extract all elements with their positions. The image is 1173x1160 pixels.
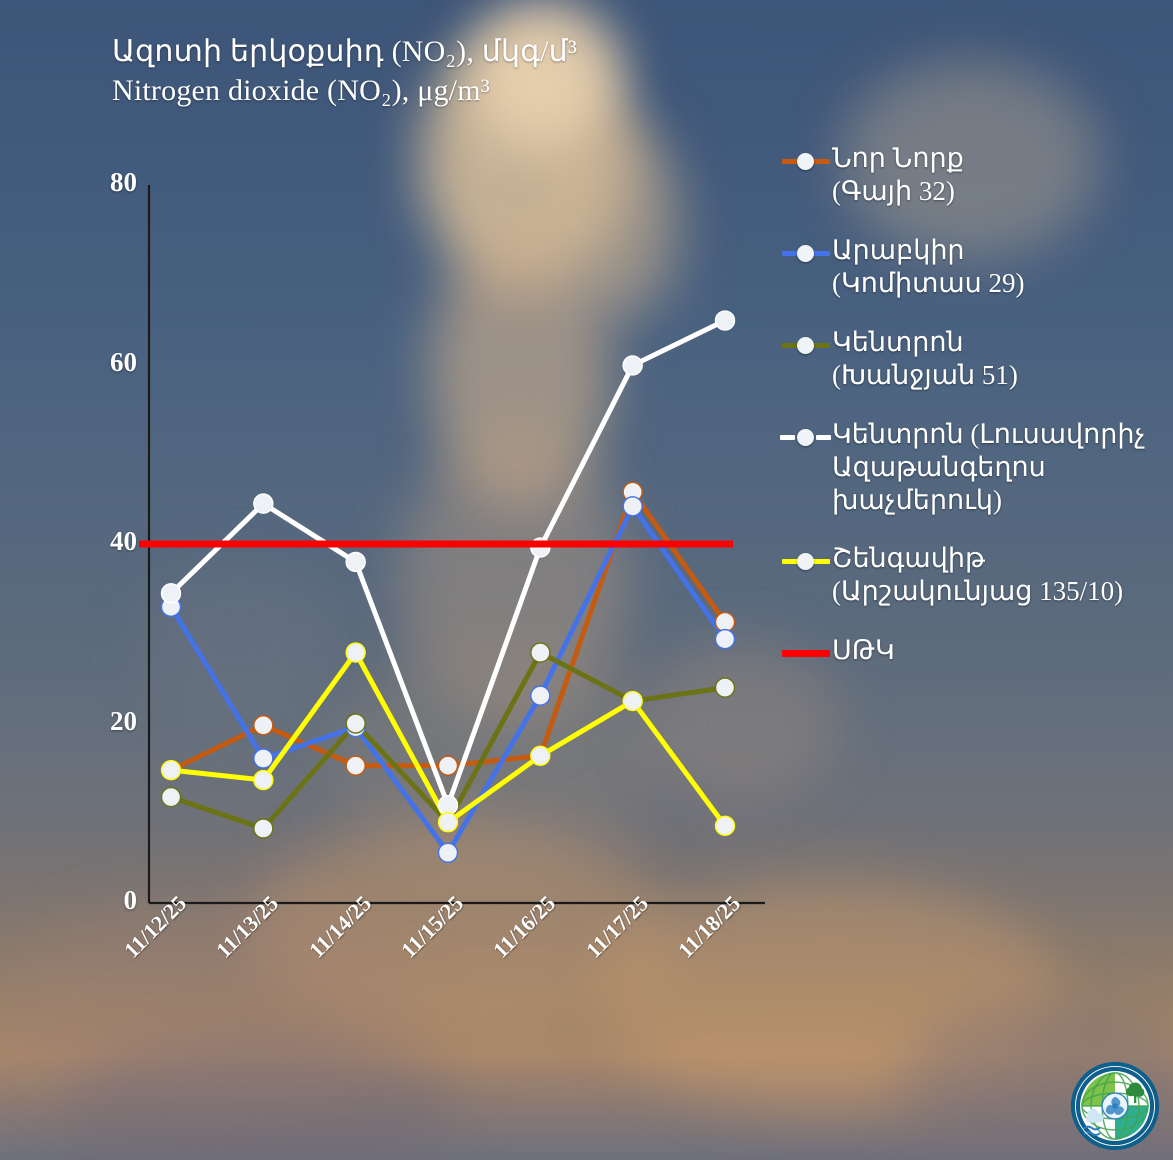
data-point[interactable] <box>254 771 273 790</box>
legend-item-arabkir[interactable]: Արաբկիր(Կոմիտաս 29) <box>780 234 1173 300</box>
y-axis-tick-label: 80 <box>77 167 137 198</box>
legend-label-line: (Գայի 32) <box>832 175 964 208</box>
data-point[interactable] <box>716 678 735 697</box>
legend-label-line: Շենգավիթ <box>832 542 1123 575</box>
legend-line-segment <box>782 650 830 657</box>
data-point[interactable] <box>346 643 365 662</box>
title-en-text: Nitrogen dioxide (NO₂), μg/m³ <box>112 74 490 107</box>
data-point[interactable] <box>439 843 458 862</box>
legend-line-segment <box>816 435 831 440</box>
chart-legend: Նոր Նորք(Գայի 32)Արաբկիր(Կոմիտաս 29)Կենտ… <box>780 142 1173 694</box>
legend-label-arabkir: Արաբկիր(Կոմիտաս 29) <box>832 234 1025 300</box>
data-point[interactable] <box>716 816 735 835</box>
data-point[interactable] <box>439 813 458 832</box>
legend-label-nor-norq: Նոր Նորք(Գայի 32) <box>832 142 964 208</box>
legend-label-line: Նոր Նորք <box>832 142 964 175</box>
legend-swatch-arabkir <box>780 238 832 268</box>
legend-marker-dot <box>797 429 814 446</box>
data-point[interactable] <box>254 716 273 735</box>
data-point[interactable] <box>531 686 550 705</box>
legend-label-line: Կենտրոն (Լուսավորիչ <box>832 418 1145 451</box>
chart-title-hy: Ազոտի երկօքսիդ (NO₂), մկգ/մ³ <box>112 32 812 71</box>
legend-swatch-nor-norq <box>780 146 832 176</box>
y-axis-tick-label: 60 <box>77 347 137 378</box>
legend-item-shengavit[interactable]: Շենգավիթ(Արշակունյաց 135/10) <box>780 542 1173 608</box>
y-axis-tick-label: 0 <box>77 885 137 916</box>
data-point[interactable] <box>623 356 642 375</box>
chart-plot-area: 020406080 11/12/2511/13/2511/14/2511/15/… <box>85 150 775 940</box>
data-point[interactable] <box>254 819 273 838</box>
legend-label-line: ՍԹԿ <box>832 634 895 667</box>
legend-marker-dot <box>797 153 814 170</box>
legend-label-line: Արաբկիր <box>832 234 1025 267</box>
legend-marker-dot <box>797 245 814 262</box>
legend-line-segment <box>780 435 795 440</box>
legend-swatch-shengavit <box>780 546 832 576</box>
organization-logo <box>1069 1060 1161 1152</box>
legend-marker-dot <box>797 553 814 570</box>
legend-label-line: խաչմերուկ) <box>832 484 1145 517</box>
legend-label-line: Կենտրոն <box>832 326 1018 359</box>
data-point[interactable] <box>254 494 273 513</box>
chart-svg <box>85 150 775 940</box>
legend-item-mpc[interactable]: ՍԹԿ <box>780 634 1173 668</box>
data-point[interactable] <box>439 796 458 815</box>
data-point[interactable] <box>346 714 365 733</box>
legend-label-kentron-khanjyan: Կենտրոն(Խանջյան 51) <box>832 326 1018 392</box>
y-axis-tick-label: 20 <box>77 706 137 737</box>
logo-icon <box>1069 1060 1161 1152</box>
data-point[interactable] <box>531 746 550 765</box>
y-axis-tick-label: 40 <box>77 526 137 557</box>
legend-swatch-kentron-lusavorich <box>780 422 832 452</box>
data-point[interactable] <box>716 311 735 330</box>
legend-label-line: (Կոմիտաս 29) <box>832 267 1025 300</box>
legend-label-mpc: ՍԹԿ <box>832 634 895 667</box>
legend-item-nor-norq[interactable]: Նոր Նորք(Գայի 32) <box>780 142 1173 208</box>
data-point[interactable] <box>716 613 735 632</box>
legend-item-kentron-khanjyan[interactable]: Կենտրոն(Խանջյան 51) <box>780 326 1173 392</box>
data-point[interactable] <box>346 552 365 571</box>
data-point[interactable] <box>162 788 181 807</box>
legend-swatch-mpc <box>780 638 832 668</box>
chart-title-en: Nitrogen dioxide (NO₂), μg/m³ <box>112 71 812 110</box>
data-point[interactable] <box>162 584 181 603</box>
data-point[interactable] <box>439 756 458 775</box>
legend-label-kentron-lusavorich: Կենտրոն (ԼուսավորիչԱզաթանգեղոսխաչմերուկ) <box>832 418 1145 517</box>
legend-label-shengavit: Շենգավիթ(Արշակունյաց 135/10) <box>832 542 1123 608</box>
legend-label-line: Ազաթանգեղոս <box>832 451 1145 484</box>
legend-label-line: (Խանջյան 51) <box>832 359 1018 392</box>
data-point[interactable] <box>623 692 642 711</box>
legend-marker-dot <box>797 337 814 354</box>
data-point[interactable] <box>162 761 181 780</box>
data-point[interactable] <box>254 749 273 768</box>
legend-label-line: (Արշակունյաց 135/10) <box>832 575 1123 608</box>
data-point[interactable] <box>531 643 550 662</box>
data-point[interactable] <box>716 630 735 649</box>
legend-item-kentron-lusavorich[interactable]: Կենտրոն (ԼուսավորիչԱզաթանգեղոսխաչմերուկ) <box>780 418 1173 517</box>
data-point[interactable] <box>346 756 365 775</box>
data-point[interactable] <box>623 497 642 516</box>
chart-title: Ազոտի երկօքսիդ (NO₂), մկգ/մ³ Nitrogen di… <box>112 32 812 110</box>
legend-swatch-kentron-khanjyan <box>780 330 832 360</box>
title-hy-text: Ազոտի երկօքսիդ (NO₂), մկգ/մ³ <box>112 35 577 68</box>
